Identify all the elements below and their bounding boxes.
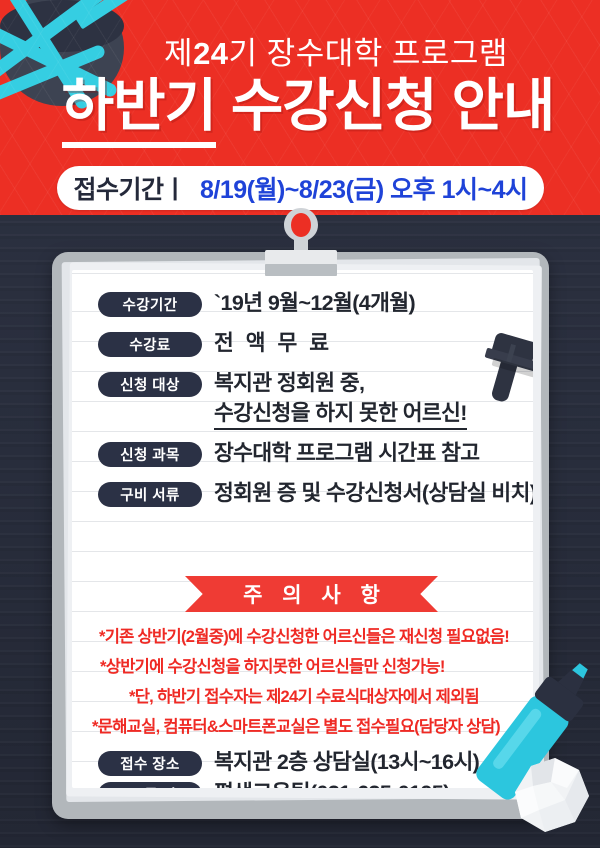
contact-row: 접수 장소 복지관 2층 상담실(13시~16시) [98, 748, 479, 776]
application-period-banner: 접수기간ㅣ 8/19(월)~8/23(금) 오후 1시~4시 [57, 166, 544, 210]
notice-ribbon: 주 의 사 항 [185, 576, 438, 612]
info-row-value: `19년 9월~12월(4개월) [214, 288, 415, 318]
info-row-label: 수강료 [98, 332, 202, 357]
info-row: 신청 대상 복지관 정회원 중, 수강신청을 하지 못한 어르신! [98, 368, 467, 430]
info-row: 수강료 전 액 무 료 [98, 328, 332, 358]
header-line1-prefix: 제 [164, 36, 193, 71]
contact-row-value: 복지관 2층 상담실(13시~16시) [214, 748, 479, 776]
header-line2-underlined: 하반기 [62, 74, 216, 148]
notice-item: *기존 상반기(2월중)에 수강신청한 어르신들은 재신청 필요없음! [84, 622, 524, 652]
contact-block: 접수 장소 복지관 2층 상담실(13시~16시) ☎문 의 평생교육팀(031… [98, 748, 479, 788]
poster-root: 제24기 장수대학 프로그램 하반기 수강신청 안내 접수기간ㅣ 8/19(월)… [0, 0, 600, 848]
header-line1-number: 24 [193, 36, 228, 71]
poster-content: 수강기간 `19년 9월~12월(4개월) 수강료 전 액 무 료 신청 대상 … [72, 270, 533, 788]
poster-header: 제24기 장수대학 프로그램 하반기 수강신청 안내 접수기간ㅣ 8/19(월)… [0, 0, 600, 215]
info-row: 수강기간 `19년 9월~12월(4개월) [98, 288, 415, 318]
contact-row-label: ☎문 의 [98, 782, 202, 788]
info-row-value: 장수대학 프로그램 시간표 참고 [214, 438, 479, 468]
notice-list: *기존 상반기(2월중)에 수강신청한 어르신들은 재신청 필요없음! *상반기… [84, 622, 524, 742]
rubber-stamp-icon [470, 332, 533, 414]
info-row-label: 수강기간 [98, 292, 202, 317]
notice-item: *상반기에 수강신청을 하지못한 어르신들만 신청가능! [84, 652, 524, 682]
info-row-value-line2: 수강신청을 하지 못한 어르신! [214, 398, 467, 430]
notice-ribbon-title: 주 의 사 항 [185, 576, 438, 612]
contact-row-label: 접수 장소 [98, 751, 202, 776]
info-row-value-line1: 복지관 정회원 중, [214, 368, 467, 398]
application-period-value: 8/19(월)~8/23(금) 오후 1시~4시 [200, 170, 528, 206]
contact-row-value: 평생교육팀(031-635-0195) [214, 779, 450, 788]
notice-item: *단, 하반기 접수자는 제24기 수료식대상자에서 제외됨 [84, 682, 524, 712]
header-title-line2: 하반기 수강신청 안내 [0, 78, 600, 135]
binder-clip-icon [253, 206, 349, 284]
info-row: 신청 과목 장수대학 프로그램 시간표 참고 [98, 438, 479, 468]
header-line2-rest: 수강신청 안내 [231, 74, 554, 138]
info-row-label: 신청 과목 [98, 442, 202, 467]
notice-item: *문해교실, 컴퓨터&스마트폰교실은 별도 접수필요(담당자 상담) [84, 712, 524, 742]
contact-row-label-text: 문 의 [144, 784, 176, 788]
header-line1-suffix: 기 장수대학 프로그램 [229, 36, 508, 71]
crumpled-paper-icon [505, 752, 593, 834]
info-row-value: 전 액 무 료 [214, 328, 332, 358]
application-period-label: 접수기간ㅣ [73, 170, 186, 206]
info-row-label: 신청 대상 [98, 372, 202, 397]
info-row-value: 정회원 증 및 수강신청서(상담실 비치) [214, 478, 533, 508]
contact-row: ☎문 의 평생교육팀(031-635-0195) [98, 779, 479, 788]
paper-sheet: 수강기간 `19년 9월~12월(4개월) 수강료 전 액 무 료 신청 대상 … [72, 270, 533, 788]
info-row: 구비 서류 정회원 증 및 수강신청서(상담실 비치) [98, 478, 533, 508]
info-row-label: 구비 서류 [98, 482, 202, 507]
header-title-line1: 제24기 장수대학 프로그램 [0, 28, 600, 73]
info-row-value: 복지관 정회원 중, 수강신청을 하지 못한 어르신! [214, 368, 467, 430]
